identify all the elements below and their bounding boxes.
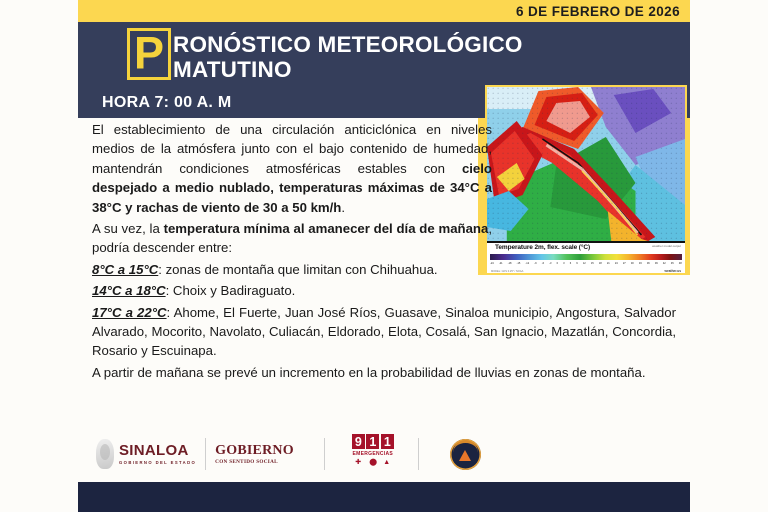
proteccion-civil-badge: [450, 439, 481, 470]
range-places-2: : Ahome, El Fuerte, Juan José Ríos, Guas…: [92, 305, 676, 359]
p2-text-a: A su vez, la: [92, 221, 164, 236]
gobierno-name: GOBIERNO: [215, 443, 294, 458]
p2-text-bold: temperatura mínima al amanecer del día d…: [164, 221, 489, 236]
logo-divider-2: [324, 438, 325, 470]
range-label-1: 14°C a 18°C: [92, 283, 166, 298]
gobierno-wordmark: GOBIERNO CON SENTIDO SOCIAL: [215, 442, 294, 465]
page-title: RONÓSTICO METEOROLÓGICO MATUTINO: [173, 32, 573, 82]
sinaloa-wordmark: SINALOA GOBIERNO DEL ESTADO: [119, 443, 196, 465]
forecast-card: 6 DE FEBRERO DE 2026 P RONÓSTICO METEORO…: [78, 0, 690, 512]
infographic-stage: 6 DE FEBRERO DE 2026 P RONÓSTICO METEORO…: [0, 0, 768, 512]
range-row-2: 17°C a 22°C: Ahome, El Fuerte, Juan José…: [92, 303, 676, 361]
police-icon: ⬤: [369, 459, 376, 466]
emergency-service-icons: ✚ ⬤ ▲: [355, 459, 390, 466]
emergency-digit-1a: 1: [366, 434, 379, 449]
p-logo-box: P: [127, 28, 171, 80]
p-logo-letter: P: [130, 31, 168, 76]
map-scale-tick: 48: [679, 261, 682, 267]
emergency-digits: 9 1 1: [352, 434, 394, 449]
range-row-0: 8°C a 15°C: zonas de montaña que limitan…: [92, 260, 676, 279]
sinaloa-logo: SINALOA GOBIERNO DEL ESTADO: [96, 434, 196, 474]
forecast-body: El establecimiento de una circulación an…: [92, 120, 676, 384]
range-label-0: 8°C a 15°C: [92, 262, 158, 277]
state-seal-icon: [96, 439, 114, 469]
emergency-label: EMERGENCIAS: [353, 451, 394, 457]
medical-cross-icon: ✚: [355, 459, 362, 466]
paragraph-minimum-intro: A su vez, la temperatura mínima al amane…: [92, 219, 492, 258]
forecast-hour: HORA 7: 00 A. M: [102, 94, 232, 112]
logo-divider-3: [418, 438, 419, 470]
sinaloa-subtitle: GOBIERNO DEL ESTADO: [119, 461, 196, 465]
forecast-date: 6 DE FEBRERO DE 2026: [516, 4, 690, 19]
emergency-911-logo: 9 1 1 EMERGENCIAS ✚ ⬤ ▲: [352, 434, 394, 474]
bottom-bar: [78, 482, 690, 512]
logo-divider-1: [205, 438, 206, 470]
paragraph-conditions: El establecimiento de una circulación an…: [92, 120, 492, 217]
gobierno-subtitle: CON SENTIDO SOCIAL: [215, 460, 294, 465]
range-places-0: : zonas de montaña que limitan con Chihu…: [158, 262, 437, 277]
range-row-1: 14°C a 18°C: Choix y Badiraguato.: [92, 281, 676, 300]
paragraph-rain-outlook: A partir de mañana se prevé un increment…: [92, 363, 676, 382]
fire-icon: ▲: [383, 459, 390, 466]
sinaloa-name: SINALOA: [119, 442, 189, 459]
range-places-1: : Choix y Badiraguato.: [166, 283, 296, 298]
footer-logos: SINALOA GOBIERNO DEL ESTADO GOBIERNO CON…: [78, 432, 690, 476]
p1-text-a: El establecimiento de una circulación an…: [92, 122, 492, 176]
range-label-2: 17°C a 22°C: [92, 305, 167, 320]
badge-arc-icon: [453, 440, 478, 454]
emergency-digit-9: 9: [352, 434, 365, 449]
date-bar: 6 DE FEBRERO DE 2026: [78, 0, 690, 22]
emergency-digit-1b: 1: [381, 434, 394, 449]
p1-text-c: .: [341, 200, 345, 215]
